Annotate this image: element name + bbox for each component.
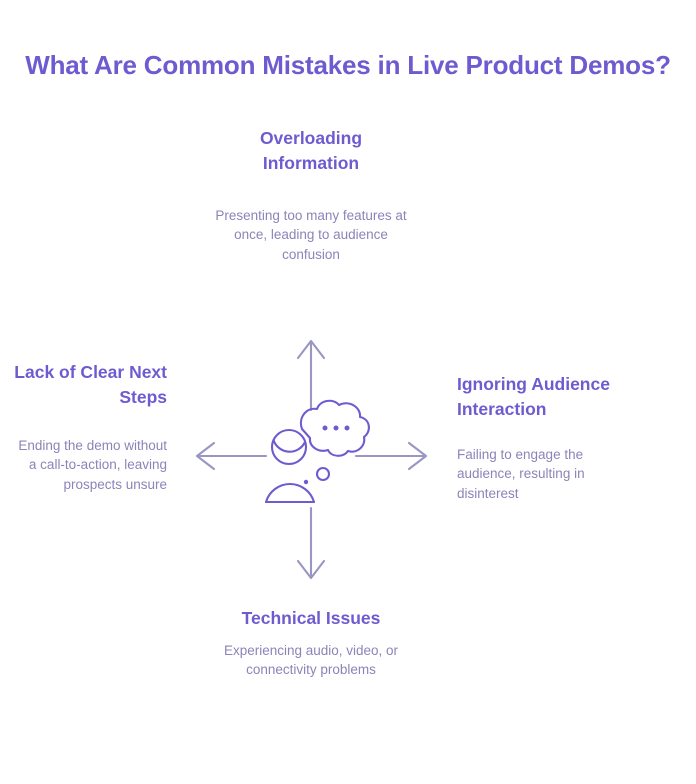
node-left-description: Ending the demo without a call-to-action… [14, 436, 167, 495]
node-top-description: Presenting too many features at once, le… [213, 206, 409, 265]
node-top-heading: Overloading Information [213, 126, 409, 176]
node-technical-issues: Technical Issues Experiencing audio, vid… [213, 606, 409, 680]
node-right-heading: Ignoring Audience Interaction [457, 372, 637, 422]
node-bottom-description: Experiencing audio, video, or connectivi… [213, 641, 409, 680]
node-ignoring-audience-interaction: Ignoring Audience Interaction Failing to… [457, 372, 637, 503]
node-overloading-information: Overloading Information Presenting too m… [213, 126, 409, 264]
node-lack-of-clear-next-steps: Lack of Clear Next Steps Ending the demo… [14, 360, 167, 494]
arrow-up-icon [298, 341, 324, 410]
arrow-down-icon [298, 508, 324, 578]
arrow-right-icon [356, 443, 426, 469]
arrow-left-icon [197, 443, 266, 469]
node-left-heading: Lack of Clear Next Steps [14, 360, 167, 410]
page-title: What Are Common Mistakes in Live Product… [0, 50, 696, 81]
node-right-description: Failing to engage the audience, resultin… [457, 445, 637, 504]
node-bottom-heading: Technical Issues [213, 606, 409, 631]
infographic-canvas: What Are Common Mistakes in Live Product… [0, 0, 696, 784]
person-with-thought-bubble-icon [266, 401, 369, 502]
center-diagram [180, 330, 450, 590]
